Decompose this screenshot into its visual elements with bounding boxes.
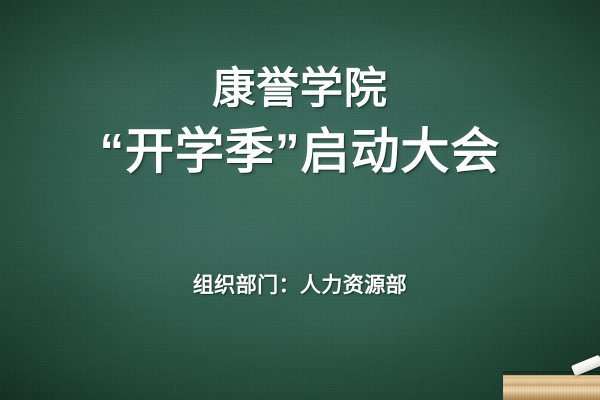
slide-title-line-2: “开学季”启动大会 — [0, 128, 600, 177]
slide-title-line-1: 康誉学院 — [0, 68, 600, 111]
chalkboard-slide: 康誉学院 “开学季”启动大会 组织部门：人力资源部 — [0, 0, 600, 400]
chalk-ledge-wood-grain — [503, 379, 600, 400]
chalk-ledge-front-face — [503, 379, 600, 400]
slide-subtitle: 组织部门：人力资源部 — [0, 275, 600, 296]
chalk-ledge — [503, 375, 600, 400]
slide-content: 康誉学院 “开学季”启动大会 组织部门：人力资源部 — [0, 0, 600, 400]
